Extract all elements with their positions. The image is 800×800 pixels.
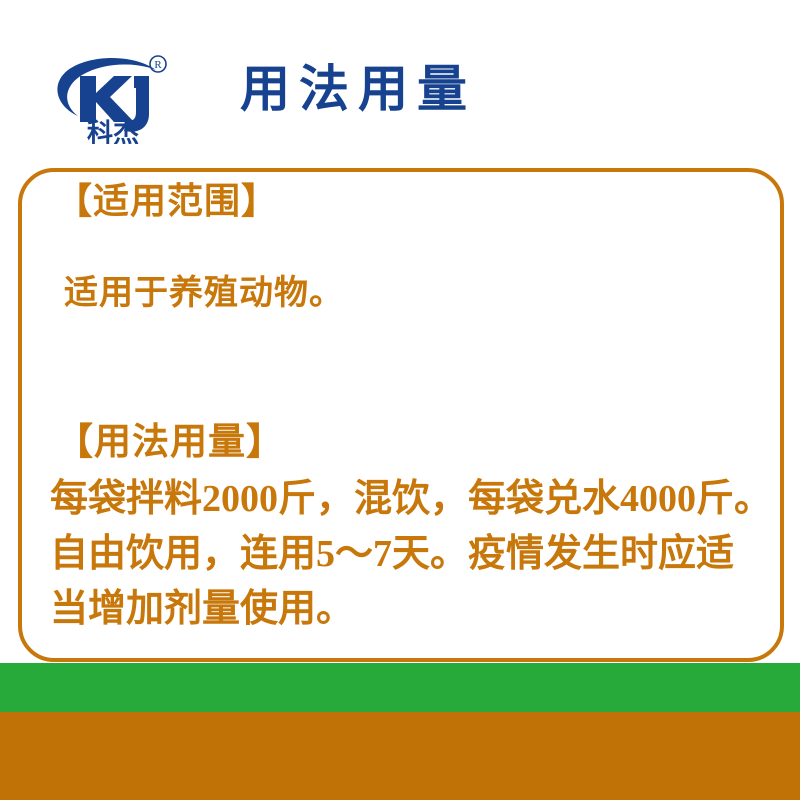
instructions-panel: 【适用范围】 适用于养殖动物。 【用法用量】 每袋拌料2000斤，混饮，每袋兑水…: [18, 168, 784, 662]
section-dosage-body: 每袋拌料2000斤，混饮，每袋兑水4000斤。 自由饮用，连用5～7天。疫情发生…: [22, 472, 780, 637]
footer-brown-band: [0, 712, 800, 800]
section-dosage-line-3: 当增加剂量使用。: [50, 582, 770, 637]
section-scope-line-1: 适用于养殖动物。: [22, 272, 780, 314]
section-scope: 【适用范围】 适用于养殖动物。: [22, 178, 780, 314]
section-dosage: 【用法用量】 每袋拌料2000斤，混饮，每袋兑水4000斤。 自由饮用，连用5～…: [22, 420, 780, 637]
page-header: R 科杰 用法用量: [0, 0, 800, 160]
brand-logo: R 科杰: [48, 48, 178, 144]
brand-name-cn: 科杰: [87, 118, 139, 144]
page-title: 用法用量: [240, 60, 476, 118]
section-scope-heading: 【适用范围】: [22, 178, 780, 224]
section-dosage-line-1: 每袋拌料2000斤，混饮，每袋兑水4000斤。: [50, 472, 770, 527]
section-dosage-heading: 【用法用量】: [22, 420, 780, 466]
footer-green-band: [0, 663, 800, 712]
svg-text:R: R: [154, 59, 162, 71]
kj-logo-icon: R 科杰: [48, 48, 178, 144]
section-dosage-line-2: 自由饮用，连用5～7天。疫情发生时应适: [50, 527, 770, 582]
